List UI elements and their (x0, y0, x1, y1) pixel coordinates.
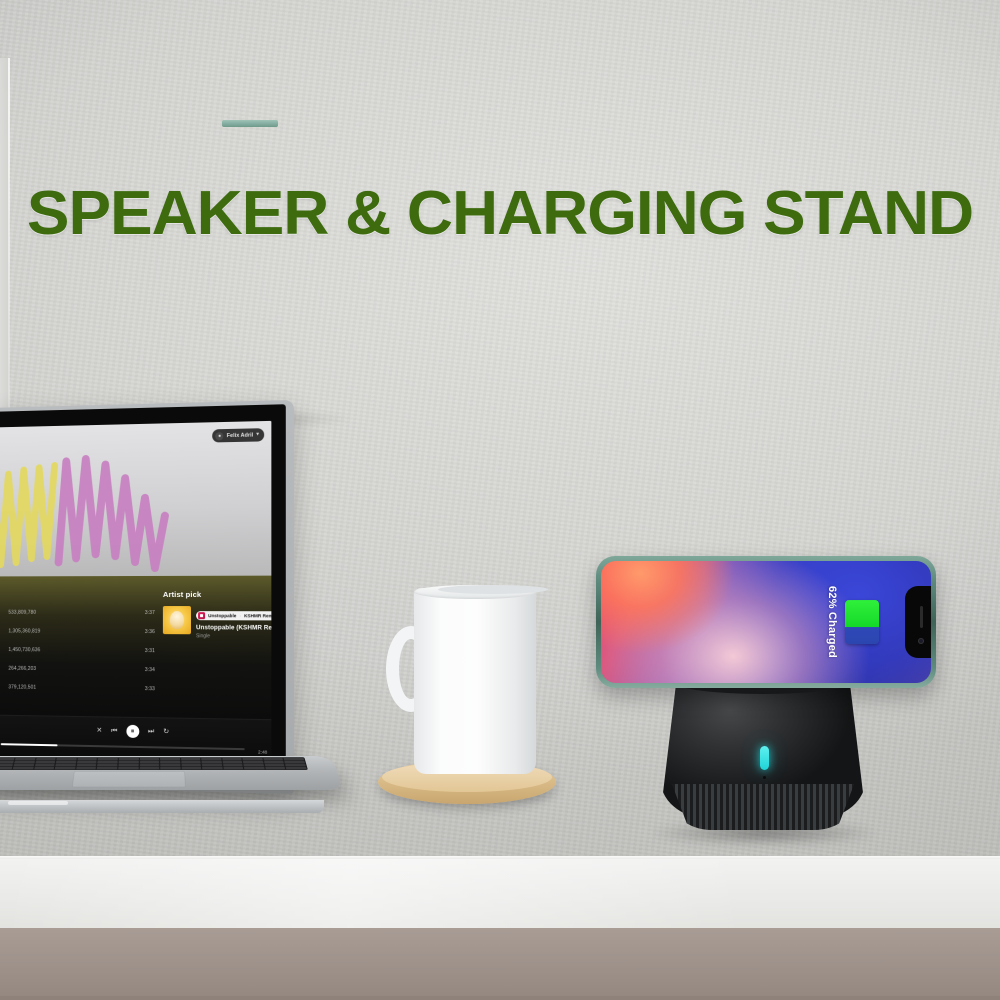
track-type: Single (196, 633, 271, 640)
app-hero-banner: ● Felix Adril ▾ (0, 421, 271, 577)
speaker-grille (666, 784, 860, 830)
track-plays: 264,266,203 (8, 666, 36, 672)
artist-pick-heading: Artist pick (163, 590, 271, 599)
artist-pick-badge[interactable]: Unstoppable · KSHMR Remix (196, 611, 271, 620)
track-plays: 379,120,501 (8, 684, 36, 690)
mug-rim (414, 585, 536, 599)
phone-stand-contact (222, 120, 278, 127)
seek-progress (1, 743, 58, 746)
previous-icon[interactable]: ⏮ (111, 727, 117, 734)
track-duration: 3:33 (145, 686, 155, 692)
laptop-lid: ● Felix Adril ▾ 533,809,780 3:37 (0, 400, 294, 794)
user-account-chip[interactable]: ● Felix Adril ▾ (213, 428, 265, 442)
app-content-area: 533,809,780 3:37 1,305,360,819 3:36 1,45… (0, 576, 271, 721)
track-list: 533,809,780 3:37 1,305,360,819 3:36 1,45… (8, 608, 155, 703)
person-icon: ● (216, 432, 224, 440)
repeat-icon[interactable]: ↻ (163, 728, 169, 735)
artwork-squiggle (0, 435, 266, 576)
table-row[interactable]: 1,450,730,636 3:31 (8, 645, 155, 656)
album-icon (198, 612, 205, 619)
table-row[interactable]: 264,266,203 3:34 (8, 664, 155, 675)
laptop-deck (0, 756, 343, 790)
table-row[interactable]: 1,305,360,819 3:36 (8, 626, 155, 637)
album-art (163, 606, 191, 634)
product-photo-scene: SPEAKER & CHARGING STAND ● Felix Adril (0, 0, 1000, 1000)
seek-bar[interactable] (1, 743, 245, 750)
laptop-bezel: ● Felix Adril ▾ 533,809,780 3:37 (0, 404, 286, 783)
charging-status: 62% Charged (826, 586, 879, 658)
track-duration: 3:34 (145, 667, 155, 673)
elapsed-time: 2:48 (258, 749, 267, 754)
front-camera-icon (918, 638, 924, 644)
badge-separator: · (239, 613, 241, 618)
keyboard[interactable] (0, 757, 308, 770)
earpiece-speaker-icon (920, 606, 923, 628)
artist-pick-card[interactable]: Artist pick Unstoppable · KSHMR Remix (163, 590, 271, 640)
bluetooth-speaker (660, 672, 866, 840)
headline-text: SPEAKER & CHARGING STAND (0, 178, 1000, 249)
smartphone: 62% Charged (596, 556, 936, 688)
trackpad[interactable] (72, 771, 186, 787)
battery-icon (845, 600, 879, 644)
led-indicator (760, 746, 769, 770)
charge-percent-label: 62% Charged (826, 586, 838, 658)
shuffle-icon[interactable]: ✕ (96, 727, 102, 734)
laptop-base (0, 756, 332, 822)
track-duration: 3:36 (145, 629, 155, 635)
track-plays: 1,305,360,819 (8, 628, 40, 634)
mug-interior (438, 585, 548, 594)
track-duration: 3:31 (145, 648, 155, 654)
badge-subtitle: KSHMR Remix (244, 613, 271, 618)
floor-line (0, 996, 1000, 1000)
phone-screen[interactable]: 62% Charged (601, 561, 931, 683)
laptop-lid-notch (8, 801, 68, 805)
laptop-screen: ● Felix Adril ▾ 533,809,780 3:37 (0, 421, 271, 767)
track-duration: 3:37 (145, 610, 155, 616)
track-plays: 533,809,780 (8, 610, 36, 616)
track-name: Unstoppable (KSHMR Remix) (196, 624, 271, 631)
chevron-down-icon: ▾ (256, 432, 259, 437)
desk-front-panel (0, 928, 1000, 1000)
laptop: ● Felix Adril ▾ 533,809,780 3:37 (0, 404, 338, 864)
battery-fill (845, 600, 879, 627)
microphone-icon (763, 776, 766, 779)
badge-title: Unstoppable (208, 613, 236, 618)
desk-reflection (0, 858, 1000, 930)
next-icon[interactable]: ⏭ (148, 728, 154, 735)
ceramic-mug (396, 588, 536, 776)
play-pause-button[interactable]: ⏸ (126, 725, 139, 738)
table-row[interactable]: 379,120,501 3:33 (8, 682, 155, 694)
mug-body (414, 588, 536, 774)
user-name-label: Felix Adril (227, 432, 254, 439)
table-row[interactable]: 533,809,780 3:37 (8, 608, 155, 618)
notch (905, 586, 931, 658)
track-plays: 1,450,730,636 (8, 647, 40, 653)
